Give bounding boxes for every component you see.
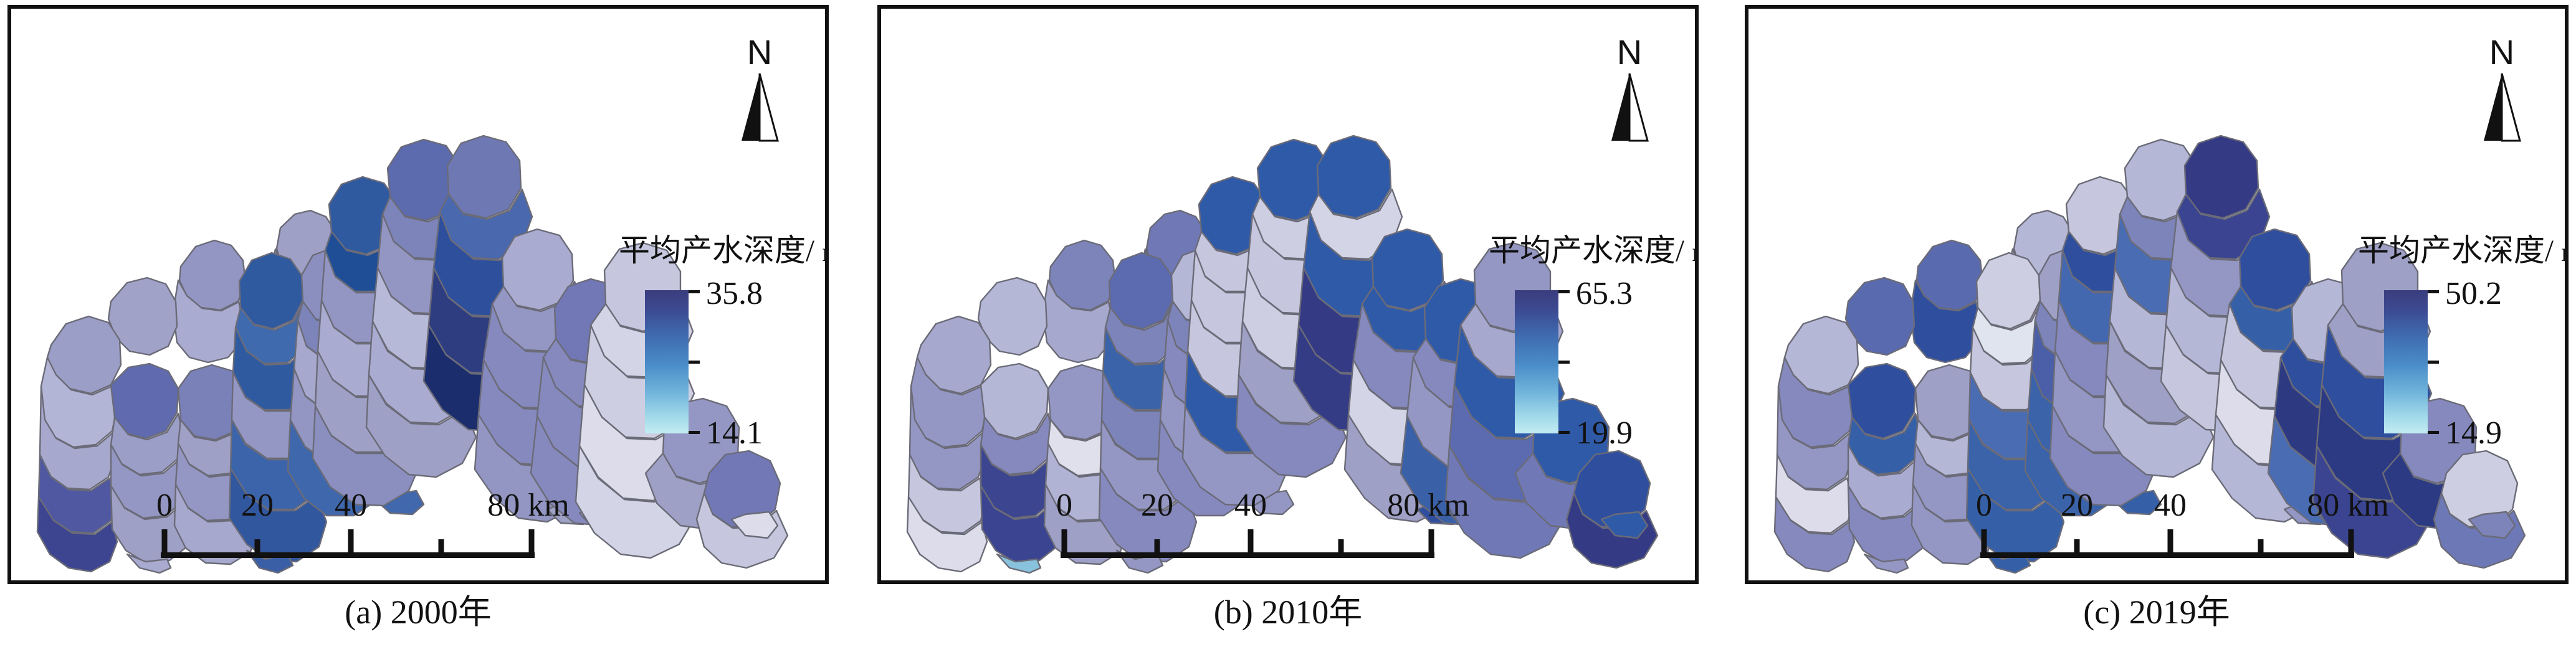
legend-tick-top-c [2428,290,2439,293]
north-arrow-a: N [732,37,788,143]
scale-bar-graphic-c [1980,529,2354,558]
legend-tick-bottom-a [689,431,700,434]
map-panel-c: N 平均产水深度/ mm 50.2 14.9 0 20 40 [1745,5,2569,584]
panel-caption-a: (a) 2000年 [7,590,829,634]
scale-label-40-a: 40 [335,489,367,522]
north-arrow-icon-b [1601,72,1658,143]
scale-tick-80-c [2349,529,2354,558]
scale-bar-labels-b: 0 20 40 80 km [1061,489,1434,526]
legend-tick-mid-a [689,361,700,364]
scale-tick-20-c [2074,539,2080,558]
scale-bar-b: 0 20 40 80 km [1061,489,1434,558]
scale-tick-0-a [162,529,168,558]
scale-tick-80-b [1429,529,1434,558]
scale-label-0-c: 0 [1976,489,1992,522]
scale-label-20-b: 20 [1141,489,1173,522]
legend-colorramp-c [2384,290,2428,433]
map-panel-b: N 平均产水深度/ mm 65.3 19.9 0 20 40 [877,5,1699,584]
scale-tick-20-a [255,539,260,558]
legend-max-a: 35.8 [706,278,763,310]
scale-tick-0-c [1982,529,1987,558]
scale-label-40-b: 40 [1234,489,1267,522]
scale-label-20-c: 20 [2061,489,2093,522]
scale-tick-40-c [2168,529,2173,558]
scale-tick-40-a [348,529,354,558]
legend-title-a: 平均产水深度/ mm [619,233,829,270]
scale-tick-80-a [529,529,535,558]
scale-bar-labels-a: 0 20 40 80 km [161,489,535,526]
legend-title-b: 平均产水深度/ mm [1489,233,1699,270]
panel-caption-b: (b) 2010年 [877,590,1699,634]
north-label-c: N [2474,35,2530,70]
panel-caption-c: (c) 2019年 [1745,590,2569,634]
legend-max-b: 65.3 [1576,278,1633,310]
legend-colorramp-a [645,290,689,433]
legend-min-c: 14.9 [2445,417,2502,450]
scale-bar-graphic-b [1061,529,1434,558]
scale-tick-60-a [439,539,444,558]
scale-bar-c: 0 20 40 80 km [1980,489,2354,558]
legend-title-c: 平均产水深度/ mm [2358,233,2569,270]
legend-tick-bottom-b [1558,431,1570,434]
scale-label-20-a: 20 [241,489,274,522]
legend-tick-mid-b [1558,361,1570,364]
scale-tick-60-c [2258,539,2264,558]
legend-tick-mid-c [2428,361,2439,364]
scale-label-80-c: 80 km [2307,489,2388,522]
scale-label-40-c: 40 [2154,489,2187,522]
legend-tick-top-a [689,290,700,293]
scale-tick-0-b [1062,529,1067,558]
north-arrow-icon-c [2474,72,2530,143]
scale-bar-graphic-a [161,529,535,558]
north-label-a: N [732,35,788,70]
north-arrow-icon-a [732,72,788,143]
scale-bar-a: 0 20 40 80 km [161,489,535,558]
legend-min-b: 19.9 [1576,417,1633,450]
scale-bar-labels-c: 0 20 40 80 km [1980,489,2354,526]
scale-label-0-b: 0 [1056,489,1072,522]
panel-a-frame: N 平均产水深度/ mm 35.8 14.1 0 20 40 [7,5,829,584]
figure-root: N 平均产水深度/ mm 35.8 14.1 0 20 40 [0,0,2576,647]
north-arrow-b: N [1601,37,1658,143]
north-label-b: N [1601,35,1658,70]
legend-colorramp-b [1515,290,1558,433]
scale-tick-60-b [1338,539,1344,558]
scale-label-80-b: 80 km [1387,489,1469,522]
legend-tick-top-b [1558,290,1570,293]
legend-max-c: 50.2 [2445,278,2502,310]
legend-tick-bottom-c [2428,431,2439,434]
legend-min-a: 14.1 [706,417,763,450]
north-arrow-c: N [2474,37,2530,143]
panel-c-frame: N 平均产水深度/ mm 50.2 14.9 0 20 40 [1745,5,2569,584]
panel-b-frame: N 平均产水深度/ mm 65.3 19.9 0 20 40 [877,5,1699,584]
scale-tick-20-b [1155,539,1160,558]
scale-label-0-a: 0 [156,489,173,522]
scale-tick-40-b [1248,529,1254,558]
scale-label-80-a: 80 km [487,489,569,522]
map-panel-a: N 平均产水深度/ mm 35.8 14.1 0 20 40 [7,5,829,584]
